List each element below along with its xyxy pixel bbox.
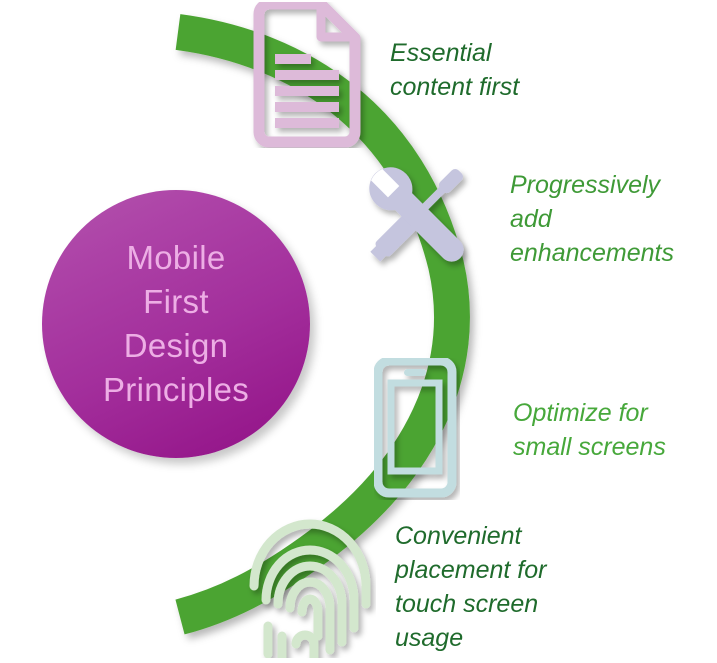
step-3-label: Optimize for small screens	[513, 396, 666, 464]
center-circle-line-1: Mobile	[126, 236, 225, 280]
step-1-icon-container	[245, 2, 371, 148]
phone-screen-border	[391, 383, 439, 471]
document-text-line-5	[275, 118, 339, 128]
fingerprint-icon	[244, 508, 376, 658]
step-2-icon-container	[352, 152, 482, 278]
document-icon	[245, 2, 371, 148]
step-4-icon-container	[244, 508, 376, 658]
step-2-label: Progressively add enhancements	[510, 168, 674, 270]
fingerprint-ridge-5	[302, 599, 318, 636]
center-circle: Mobile First Design Principles	[42, 190, 310, 458]
phone-speaker-slot	[404, 369, 426, 376]
wrench-screwdriver-icon	[352, 152, 482, 278]
step-3-icon-container	[374, 358, 460, 500]
mobile-first-design-principles-infographic: Mobile First Design Principles	[0, 0, 717, 663]
document-text-line-4	[275, 102, 339, 112]
step-1-label: Essential content first	[390, 36, 519, 104]
center-circle-line-3: Design	[124, 324, 229, 368]
center-circle-line-2: First	[143, 280, 209, 324]
center-circle-line-4: Principles	[103, 368, 249, 412]
document-text-line-2	[275, 70, 339, 80]
document-text-line-1	[275, 54, 311, 64]
document-text-line-3	[275, 86, 339, 96]
fingerprint-ridge-8	[296, 635, 314, 658]
step-4-label: Convenient placement for touch screen us…	[395, 519, 546, 655]
smartphone-icon	[374, 358, 460, 500]
